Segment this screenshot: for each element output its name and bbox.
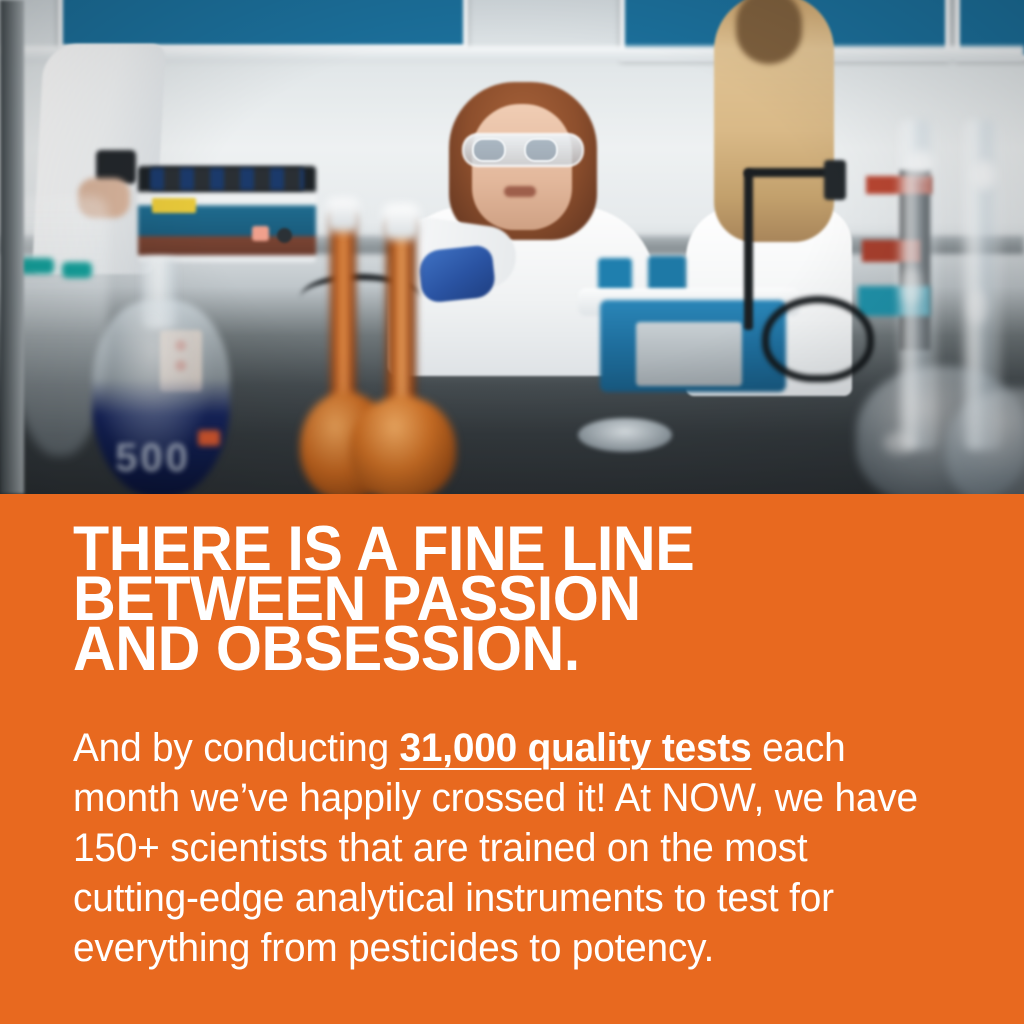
instrument-knob [277,228,292,243]
orange-text-panel: THERE IS A FINE LINE BETWEEN PASSION AND… [0,494,1024,1024]
specular-highlight-4 [968,290,988,324]
watch-glass-dish [578,418,672,452]
safety-goggles-lens-left [472,138,506,162]
specular-highlight-5 [884,432,914,454]
amber-flask-stopper-1 [326,198,360,232]
headline-line-3: AND OBSESSION. [73,624,919,674]
blue-nitrile-glove [417,244,496,303]
instrument-button-red [252,226,269,241]
retort-stand-clamp [824,160,846,200]
amber-flask-bulb-2 [350,396,456,494]
body-copy-before: And by conducting [73,726,400,770]
scientist-center-face [472,104,572,230]
specular-highlight-3 [900,268,922,304]
instrument-display-panel [636,322,742,386]
sample-vial-rack [150,168,304,190]
coiled-cable-right [762,296,874,382]
body-copy: And by conducting 31,000 quality tests e… [73,723,927,973]
scientist-center-mouth [504,186,536,197]
specular-highlight-2 [972,160,996,190]
amber-flask-stopper-2 [382,204,420,240]
flask-volume-label: 500 [98,436,208,481]
safety-goggles-lens-right [524,138,558,162]
specular-highlight-1 [908,150,934,176]
headline: THERE IS A FINE LINE BETWEEN PASSION AND… [73,524,919,674]
left-frame-post [0,0,24,494]
quality-tests-emphasis: 31,000 quality tests [400,726,752,770]
scientist-right-hair-top [736,0,802,64]
upper-cabinet-left [58,0,468,50]
instrument-yellow-label [152,198,196,213]
social-media-card: 500 THERE IS A FINE LINE BETWEEN PASSION… [0,0,1024,1024]
lab-photograph: 500 [0,0,1024,494]
retort-stand-rod [744,170,753,330]
bottle-cap-teal-2 [62,262,92,278]
